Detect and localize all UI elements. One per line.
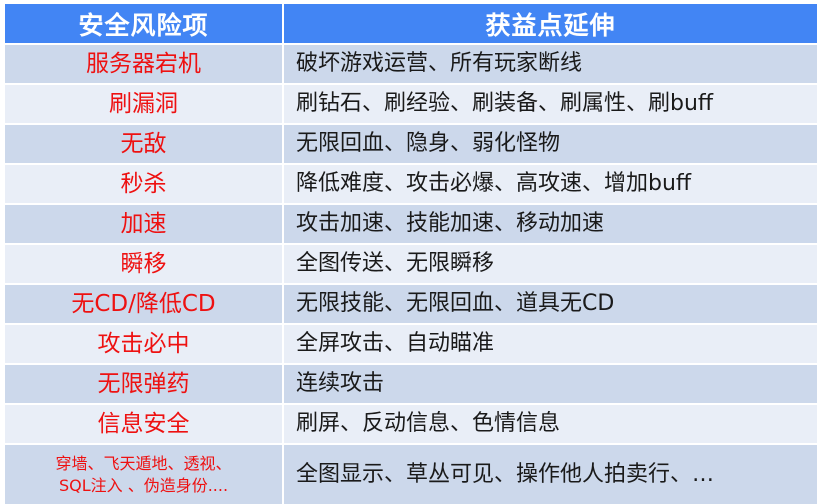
column-header-benefit: 获益点延伸: [283, 4, 817, 44]
cell-risk: 瞬移: [5, 244, 283, 284]
table-body: 服务器宕机 破坏游戏运营、所有玩家断线 刷漏洞 刷钻石、刷经验、刷装备、刷属性、…: [5, 44, 817, 504]
table-row: 加速 攻击加速、技能加速、移动加速: [5, 204, 817, 244]
cell-benefit: 破坏游戏运营、所有玩家断线: [283, 44, 817, 84]
table-row: 攻击必中 全屏攻击、自动瞄准: [5, 324, 817, 364]
cell-risk: 穿墙、飞天遁地、透视、 SQL注入 、伪造身份....: [5, 444, 283, 504]
security-risk-table: 安全风险项 获益点延伸 服务器宕机 破坏游戏运营、所有玩家断线 刷漏洞 刷钻石、…: [5, 4, 817, 504]
table-row: 秒杀 降低难度、攻击必爆、高攻速、增加buff: [5, 164, 817, 204]
cell-benefit: 无限回血、隐身、弱化怪物: [283, 124, 817, 164]
cell-benefit: 刷屏、反动信息、色情信息: [283, 404, 817, 444]
cell-benefit: 连续攻击: [283, 364, 817, 404]
cell-risk-line-2: SQL注入 、伪造身份....: [9, 475, 278, 497]
cell-risk: 服务器宕机: [5, 44, 283, 84]
cell-benefit: 降低难度、攻击必爆、高攻速、增加buff: [283, 164, 817, 204]
table-row: 穿墙、飞天遁地、透视、 SQL注入 、伪造身份.... 全图显示、草丛可见、操作…: [5, 444, 817, 504]
cell-risk: 刷漏洞: [5, 84, 283, 124]
table-row: 信息安全 刷屏、反动信息、色情信息: [5, 404, 817, 444]
column-header-risk: 安全风险项: [5, 4, 283, 44]
table-row: 瞬移 全图传送、无限瞬移: [5, 244, 817, 284]
cell-benefit: 全图显示、草丛可见、操作他人拍卖行、…: [283, 444, 817, 504]
table-header-row: 安全风险项 获益点延伸: [5, 4, 817, 44]
cell-risk: 加速: [5, 204, 283, 244]
cell-benefit: 攻击加速、技能加速、移动加速: [283, 204, 817, 244]
table-row: 无敌 无限回血、隐身、弱化怪物: [5, 124, 817, 164]
cell-benefit: 全屏攻击、自动瞄准: [283, 324, 817, 364]
cell-risk: 攻击必中: [5, 324, 283, 364]
cell-benefit: 全图传送、无限瞬移: [283, 244, 817, 284]
table-row: 刷漏洞 刷钻石、刷经验、刷装备、刷属性、刷buff: [5, 84, 817, 124]
table-row: 无CD/降低CD 无限技能、无限回血、道具无CD: [5, 284, 817, 324]
cell-risk: 无敌: [5, 124, 283, 164]
cell-risk: 无CD/降低CD: [5, 284, 283, 324]
cell-benefit: 刷钻石、刷经验、刷装备、刷属性、刷buff: [283, 84, 817, 124]
cell-risk: 信息安全: [5, 404, 283, 444]
cell-benefit: 无限技能、无限回血、道具无CD: [283, 284, 817, 324]
cell-risk-line-1: 穿墙、飞天遁地、透视、: [9, 453, 278, 475]
table-row: 服务器宕机 破坏游戏运营、所有玩家断线: [5, 44, 817, 84]
cell-risk: 无限弹药: [5, 364, 283, 404]
table-header: 安全风险项 获益点延伸: [5, 4, 817, 44]
table-row: 无限弹药 连续攻击: [5, 364, 817, 404]
cell-risk: 秒杀: [5, 164, 283, 204]
